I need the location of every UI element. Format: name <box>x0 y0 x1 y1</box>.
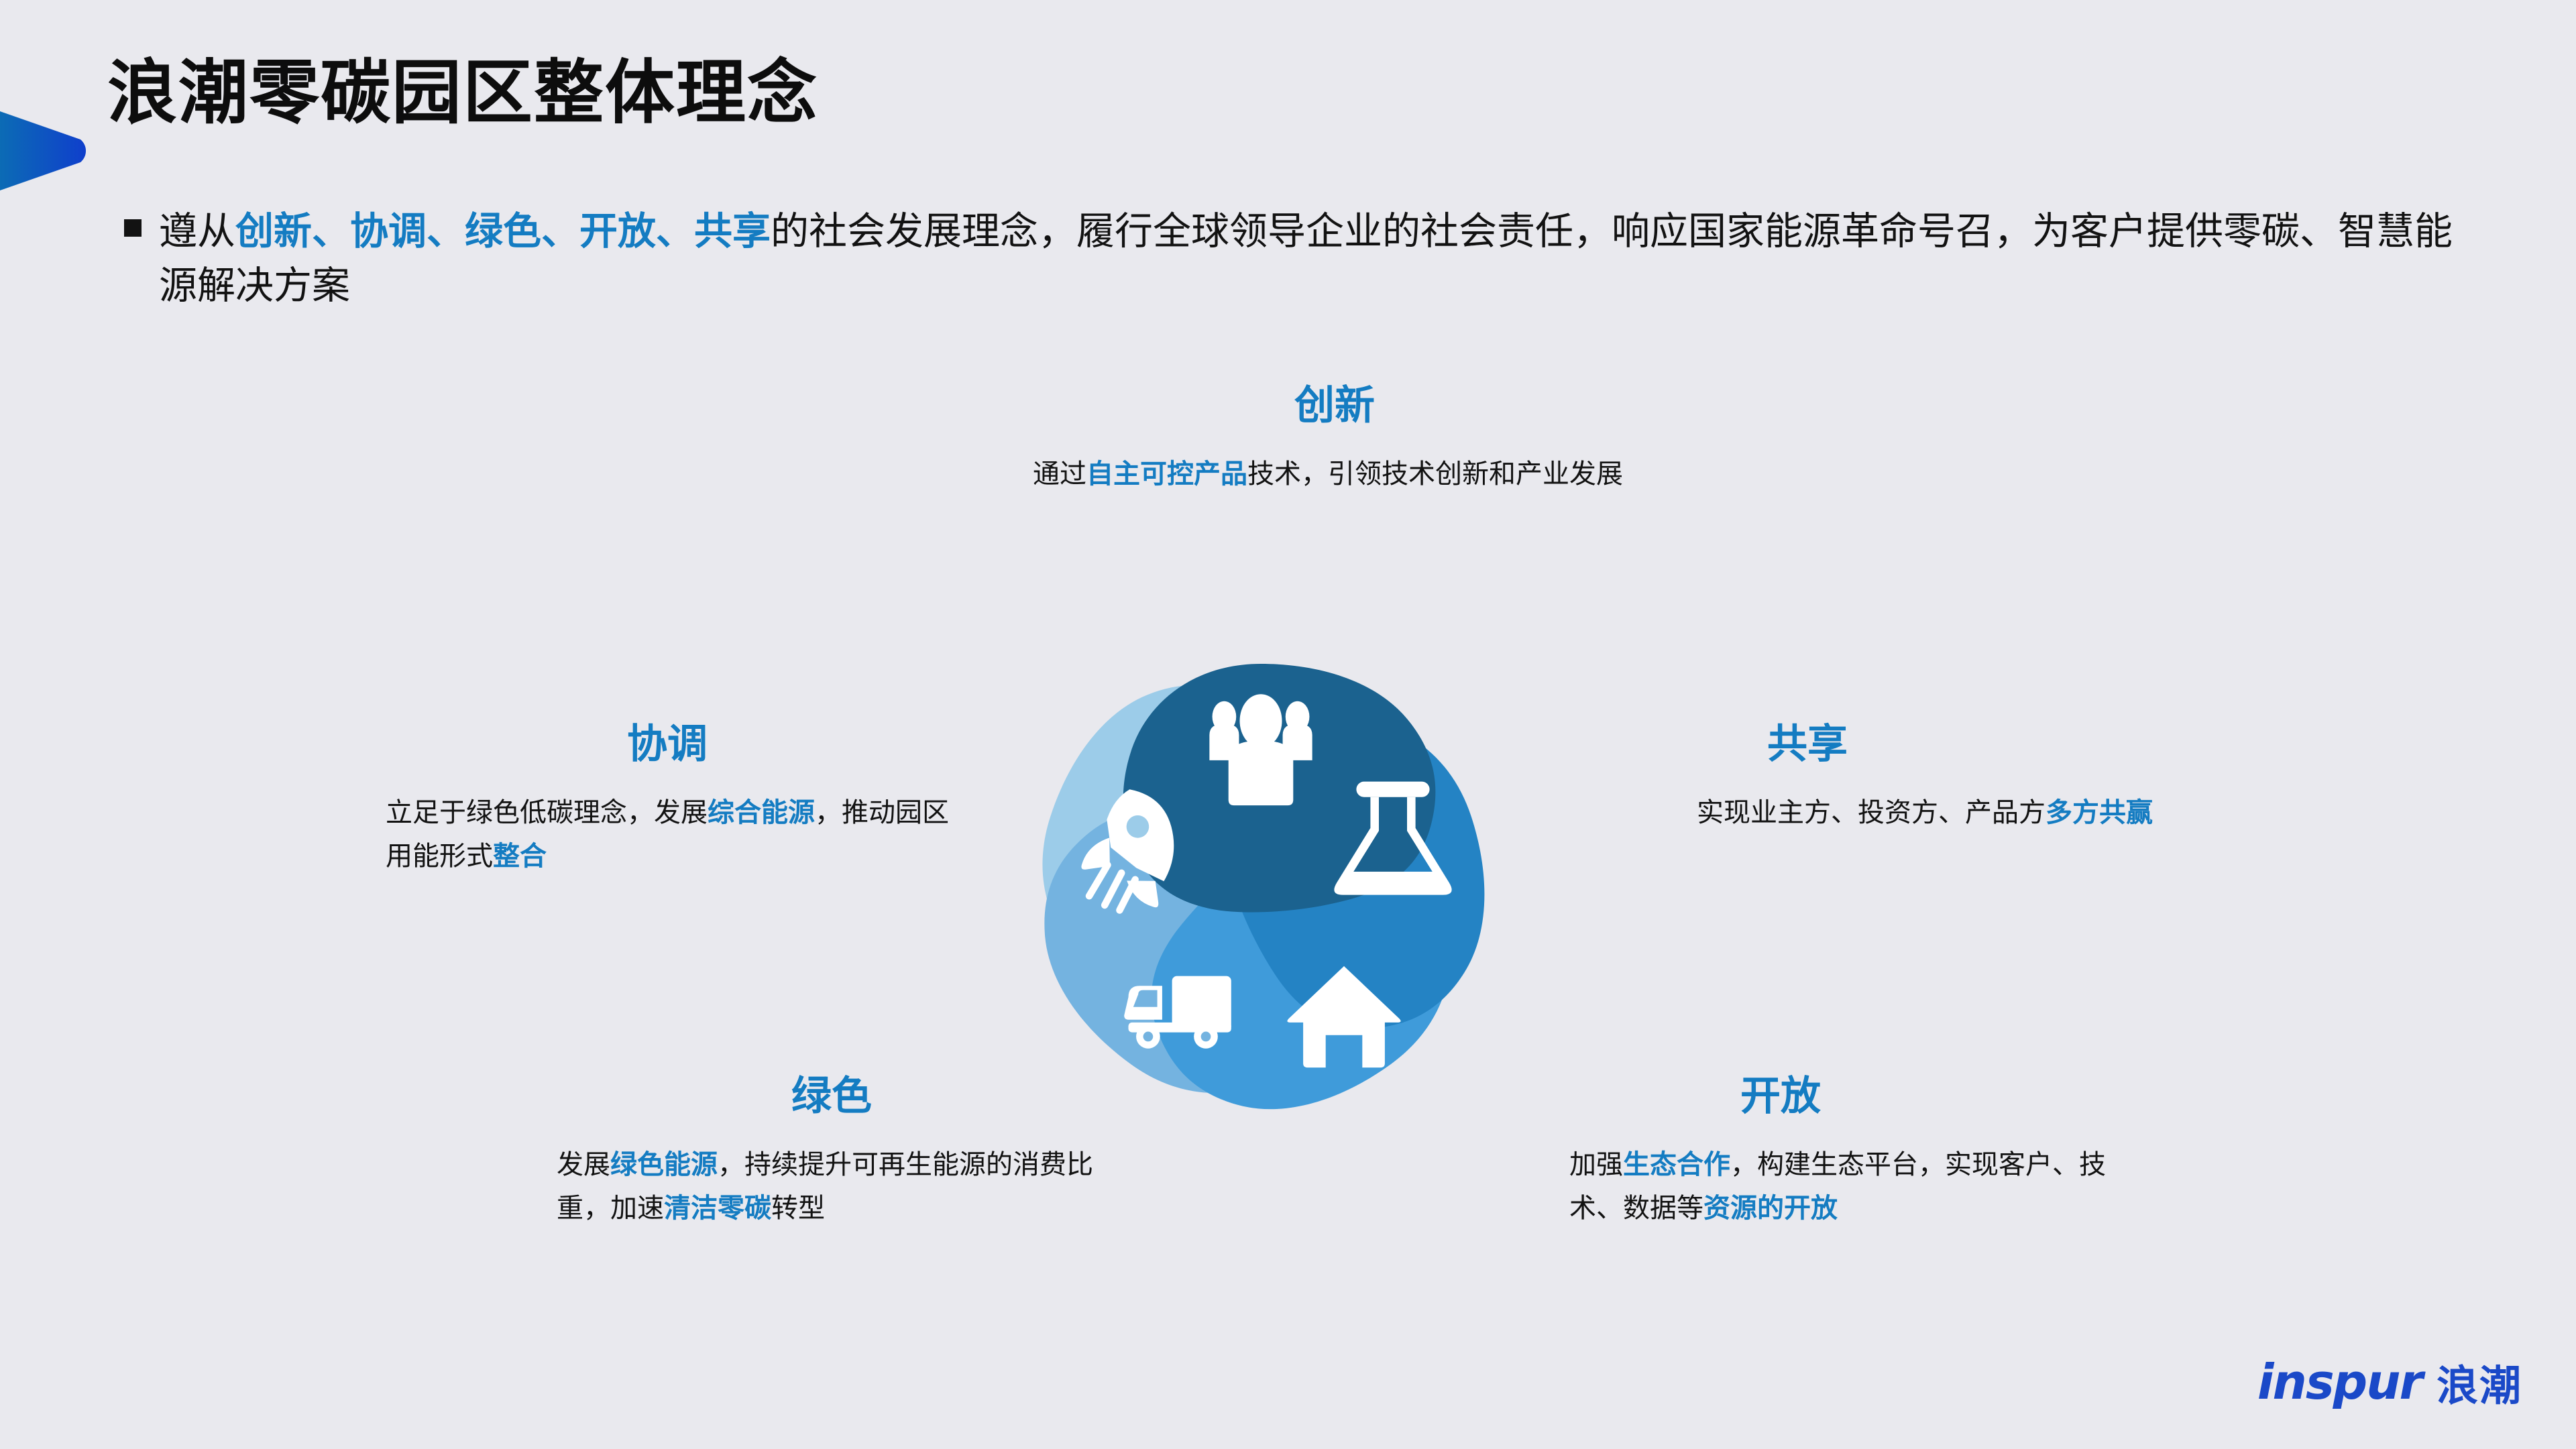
innovation-seg-2: 技术，引领技术创新和产业发展 <box>1247 459 1623 489</box>
callout-share: 共享 实现业主方、投资方、产品方多方共赢 <box>1697 724 2233 835</box>
bullet-paragraph-text: 遵从创新、协调、绿色、开放、共享的社会发展理念，履行全球领导企业的社会责任，响应… <box>159 205 2485 313</box>
callout-coordination: 协调 立足于绿色低碳理念，发展综合能源，推动园区用能形式整合 <box>386 724 949 878</box>
callout-green-heading: 绿色 <box>557 1076 1107 1116</box>
callout-coordination-body: 立足于绿色低碳理念，发展综合能源，推动园区用能形式整合 <box>386 791 949 878</box>
callout-share-heading: 共享 <box>1697 724 2233 764</box>
callout-innovation-heading: 创新 <box>1033 386 1636 426</box>
coordination-seg-3: 整合 <box>493 842 547 871</box>
green-seg-3: 清洁零碳 <box>664 1194 771 1223</box>
green-seg-4: 转型 <box>771 1194 825 1223</box>
share-seg-1: 多方共赢 <box>2046 798 2153 827</box>
coordination-seg-0: 立足于绿色低碳理念，发展 <box>386 798 708 827</box>
innovation-seg-1: 自主可控产品 <box>1086 459 1247 489</box>
chevron-right-accent-icon <box>0 74 114 228</box>
green-seg-0: 发展 <box>557 1150 610 1179</box>
callout-innovation: 创新 通过自主可控产品技术，引领技术创新和产业发展 <box>1033 386 1636 496</box>
callout-green-body: 发展绿色能源，持续提升可再生能源的消费比重，加速清洁零碳转型 <box>557 1143 1107 1230</box>
callout-open: 开放 加强生态合作，构建生态平台，实现客户、技术、数据等资源的开放 <box>1569 1076 2126 1230</box>
open-seg-1: 生态合作 <box>1623 1150 1730 1179</box>
open-seg-0: 加强 <box>1569 1150 1623 1179</box>
callout-share-body: 实现业主方、投资方、产品方多方共赢 <box>1697 791 2233 835</box>
bullet-seg-0: 遵从 <box>159 210 235 253</box>
callout-innovation-body: 通过自主可控产品技术，引领技术创新和产业发展 <box>1033 453 1636 496</box>
open-seg-3: 资源的开放 <box>1703 1194 1838 1223</box>
inspur-wordmark: inspur <box>2257 1354 2422 1410</box>
callout-open-body: 加强生态合作，构建生态平台，实现客户、技术、数据等资源的开放 <box>1569 1143 2126 1230</box>
inspur-cn-wordmark: 浪潮 <box>2437 1352 2522 1412</box>
square-bullet-icon <box>124 219 142 237</box>
bullet-seg-1: 创新、协调、绿色、开放、共享 <box>235 210 771 253</box>
slide-canvas: 浪潮零碳园区整体理念 遵从创新、协调、绿色、开放、共享的社会发展理念，履行全球领… <box>0 0 2576 1449</box>
innovation-seg-0: 通过 <box>1033 459 1086 489</box>
share-seg-0: 实现业主方、投资方、产品方 <box>1697 798 2046 827</box>
inspur-logo: inspur 浪潮 <box>2257 1352 2522 1412</box>
callout-green: 绿色 发展绿色能源，持续提升可再生能源的消费比重，加速清洁零碳转型 <box>557 1076 1107 1230</box>
callout-coordination-heading: 协调 <box>386 724 949 764</box>
page-title: 浪潮零碳园区整体理念 <box>107 52 818 135</box>
bullet-paragraph: 遵从创新、协调、绿色、开放、共享的社会发展理念，履行全球领导企业的社会责任，响应… <box>124 205 2485 313</box>
green-seg-1: 绿色能源 <box>610 1150 718 1179</box>
callout-open-heading: 开放 <box>1569 1076 2126 1116</box>
coordination-seg-1: 综合能源 <box>708 798 815 827</box>
